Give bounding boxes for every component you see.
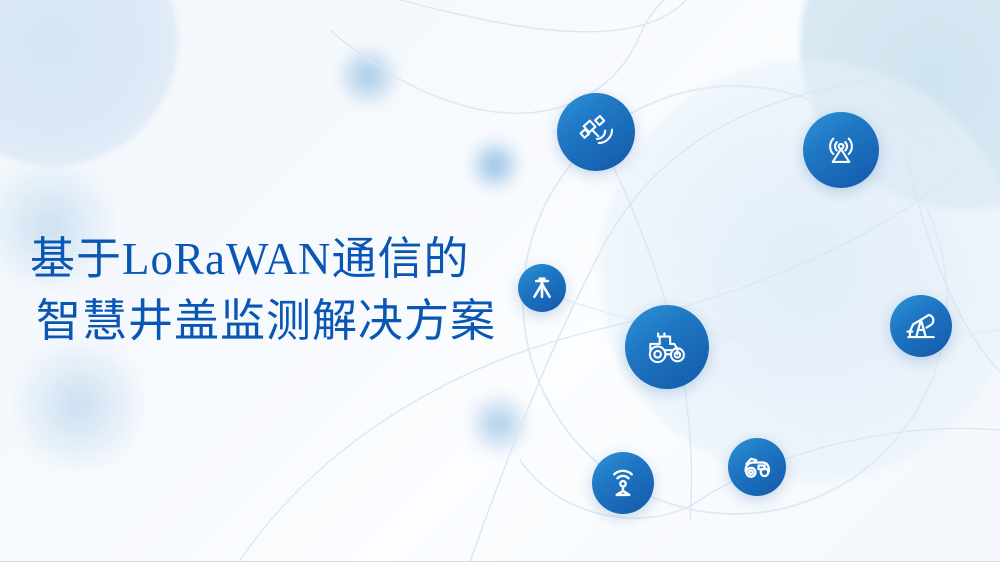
node-satellite[interactable] xyxy=(557,93,635,171)
tractor-icon xyxy=(642,322,692,372)
node-antenna[interactable] xyxy=(803,112,879,188)
background-dot-a xyxy=(340,48,396,104)
robot-mower-icon xyxy=(739,449,775,485)
background-blob-top-left xyxy=(0,0,178,166)
background-dot-c xyxy=(470,395,528,453)
title-line-1: 基于LoRaWAN通信的 xyxy=(30,228,590,290)
background-dot-b xyxy=(470,140,520,190)
node-pumpjack[interactable] xyxy=(890,295,952,357)
satellite-signal-icon xyxy=(574,110,618,154)
oil-pumpjack-icon xyxy=(902,307,940,345)
wifi-sensor-icon xyxy=(604,464,642,502)
radio-tower-icon xyxy=(819,128,863,172)
presentation-slide: 基于LoRaWAN通信的 智慧井盖监测解决方案 xyxy=(0,0,1000,562)
node-tractor[interactable] xyxy=(625,305,709,389)
background-blob-bottom-left xyxy=(18,345,138,465)
slide-title: 基于LoRaWAN通信的 智慧井盖监测解决方案 xyxy=(30,228,590,352)
background-blob-center-right xyxy=(600,60,1000,480)
title-line-2: 智慧井盖监测解决方案 xyxy=(30,290,590,352)
node-iot-beacon[interactable] xyxy=(592,452,654,514)
node-robot-mower[interactable] xyxy=(728,438,786,496)
